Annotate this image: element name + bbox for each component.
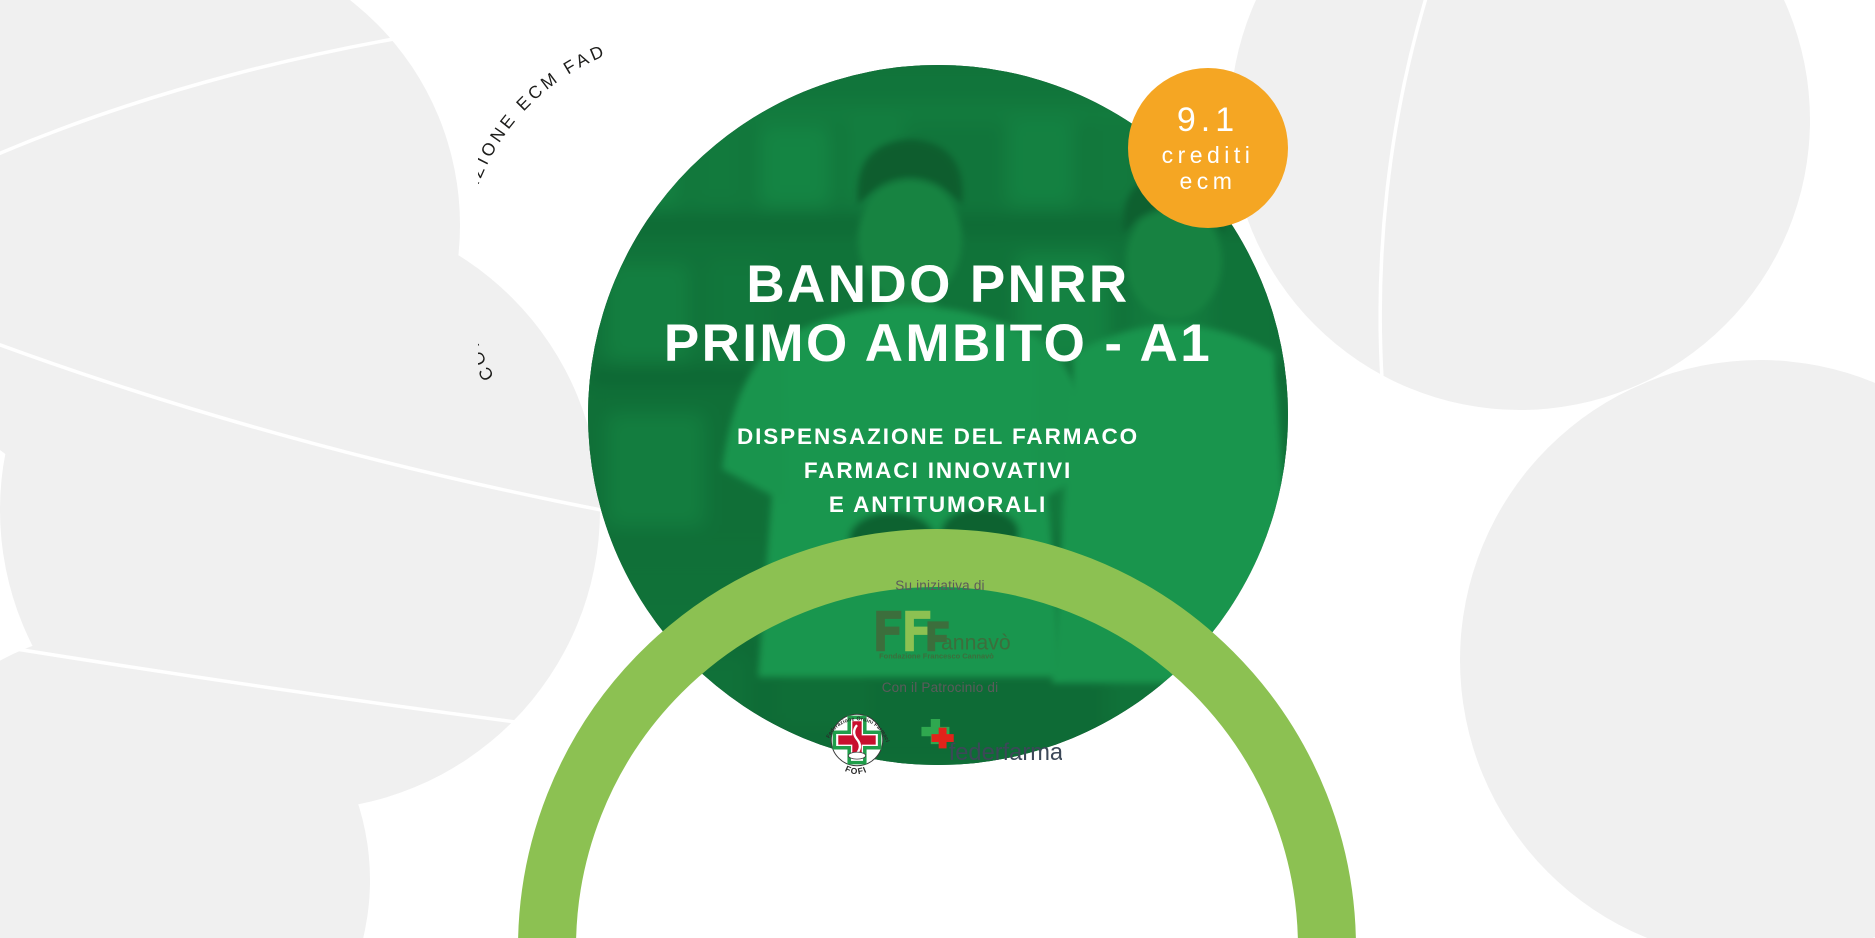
ffc-cannavo-logo: annavò Fondazione Francesco Cannavò [867, 602, 1013, 660]
patronage-caption: Con il Patrocinio di [882, 680, 999, 695]
ffc-wordmark: annavò [941, 630, 1011, 654]
page-title: BANDO PNRR PRIMO AMBITO - A1 [588, 255, 1288, 374]
subtitle-line-1: DISPENSAZIONE DEL FARMACO [568, 420, 1308, 454]
arc-course-label: CORSO DI FORMAZIONE ECM FAD [478, 18, 898, 438]
poster-canvas: CORSO DI FORMAZIONE ECM FAD // SVG textP… [0, 0, 1875, 938]
bg-circle-top-right [1230, 0, 1810, 410]
credits-badge: 9.1 crediti ecm [1128, 68, 1288, 228]
credits-number: 9.1 [1177, 103, 1239, 139]
ffc-subtitle: Fondazione Francesco Cannavò [879, 652, 994, 660]
bg-circle-bottom-right [1460, 360, 1875, 938]
title-line-2: PRIMO AMBITO - A1 [588, 314, 1288, 373]
federfarma-logo: federfarma [910, 714, 1062, 766]
federfarma-wordmark: federfarma [949, 740, 1062, 766]
credits-word-ecm: ecm [1180, 169, 1237, 193]
subtitle-line-2: FARMACI INNOVATIVI [568, 454, 1308, 488]
footer-logos: Su iniziativa di annavò Fondazione Franc… [660, 578, 1220, 779]
credits-word-crediti: crediti [1162, 143, 1255, 167]
title-line-1: BANDO PNRR [588, 255, 1288, 314]
patronage-logo-row: Federazione Ordini Farmacisti Italiani F… [818, 701, 1062, 779]
fofi-logo: Federazione Ordini Farmacisti Italiani F… [818, 701, 896, 779]
initiative-caption: Su iniziativa di [895, 578, 985, 593]
